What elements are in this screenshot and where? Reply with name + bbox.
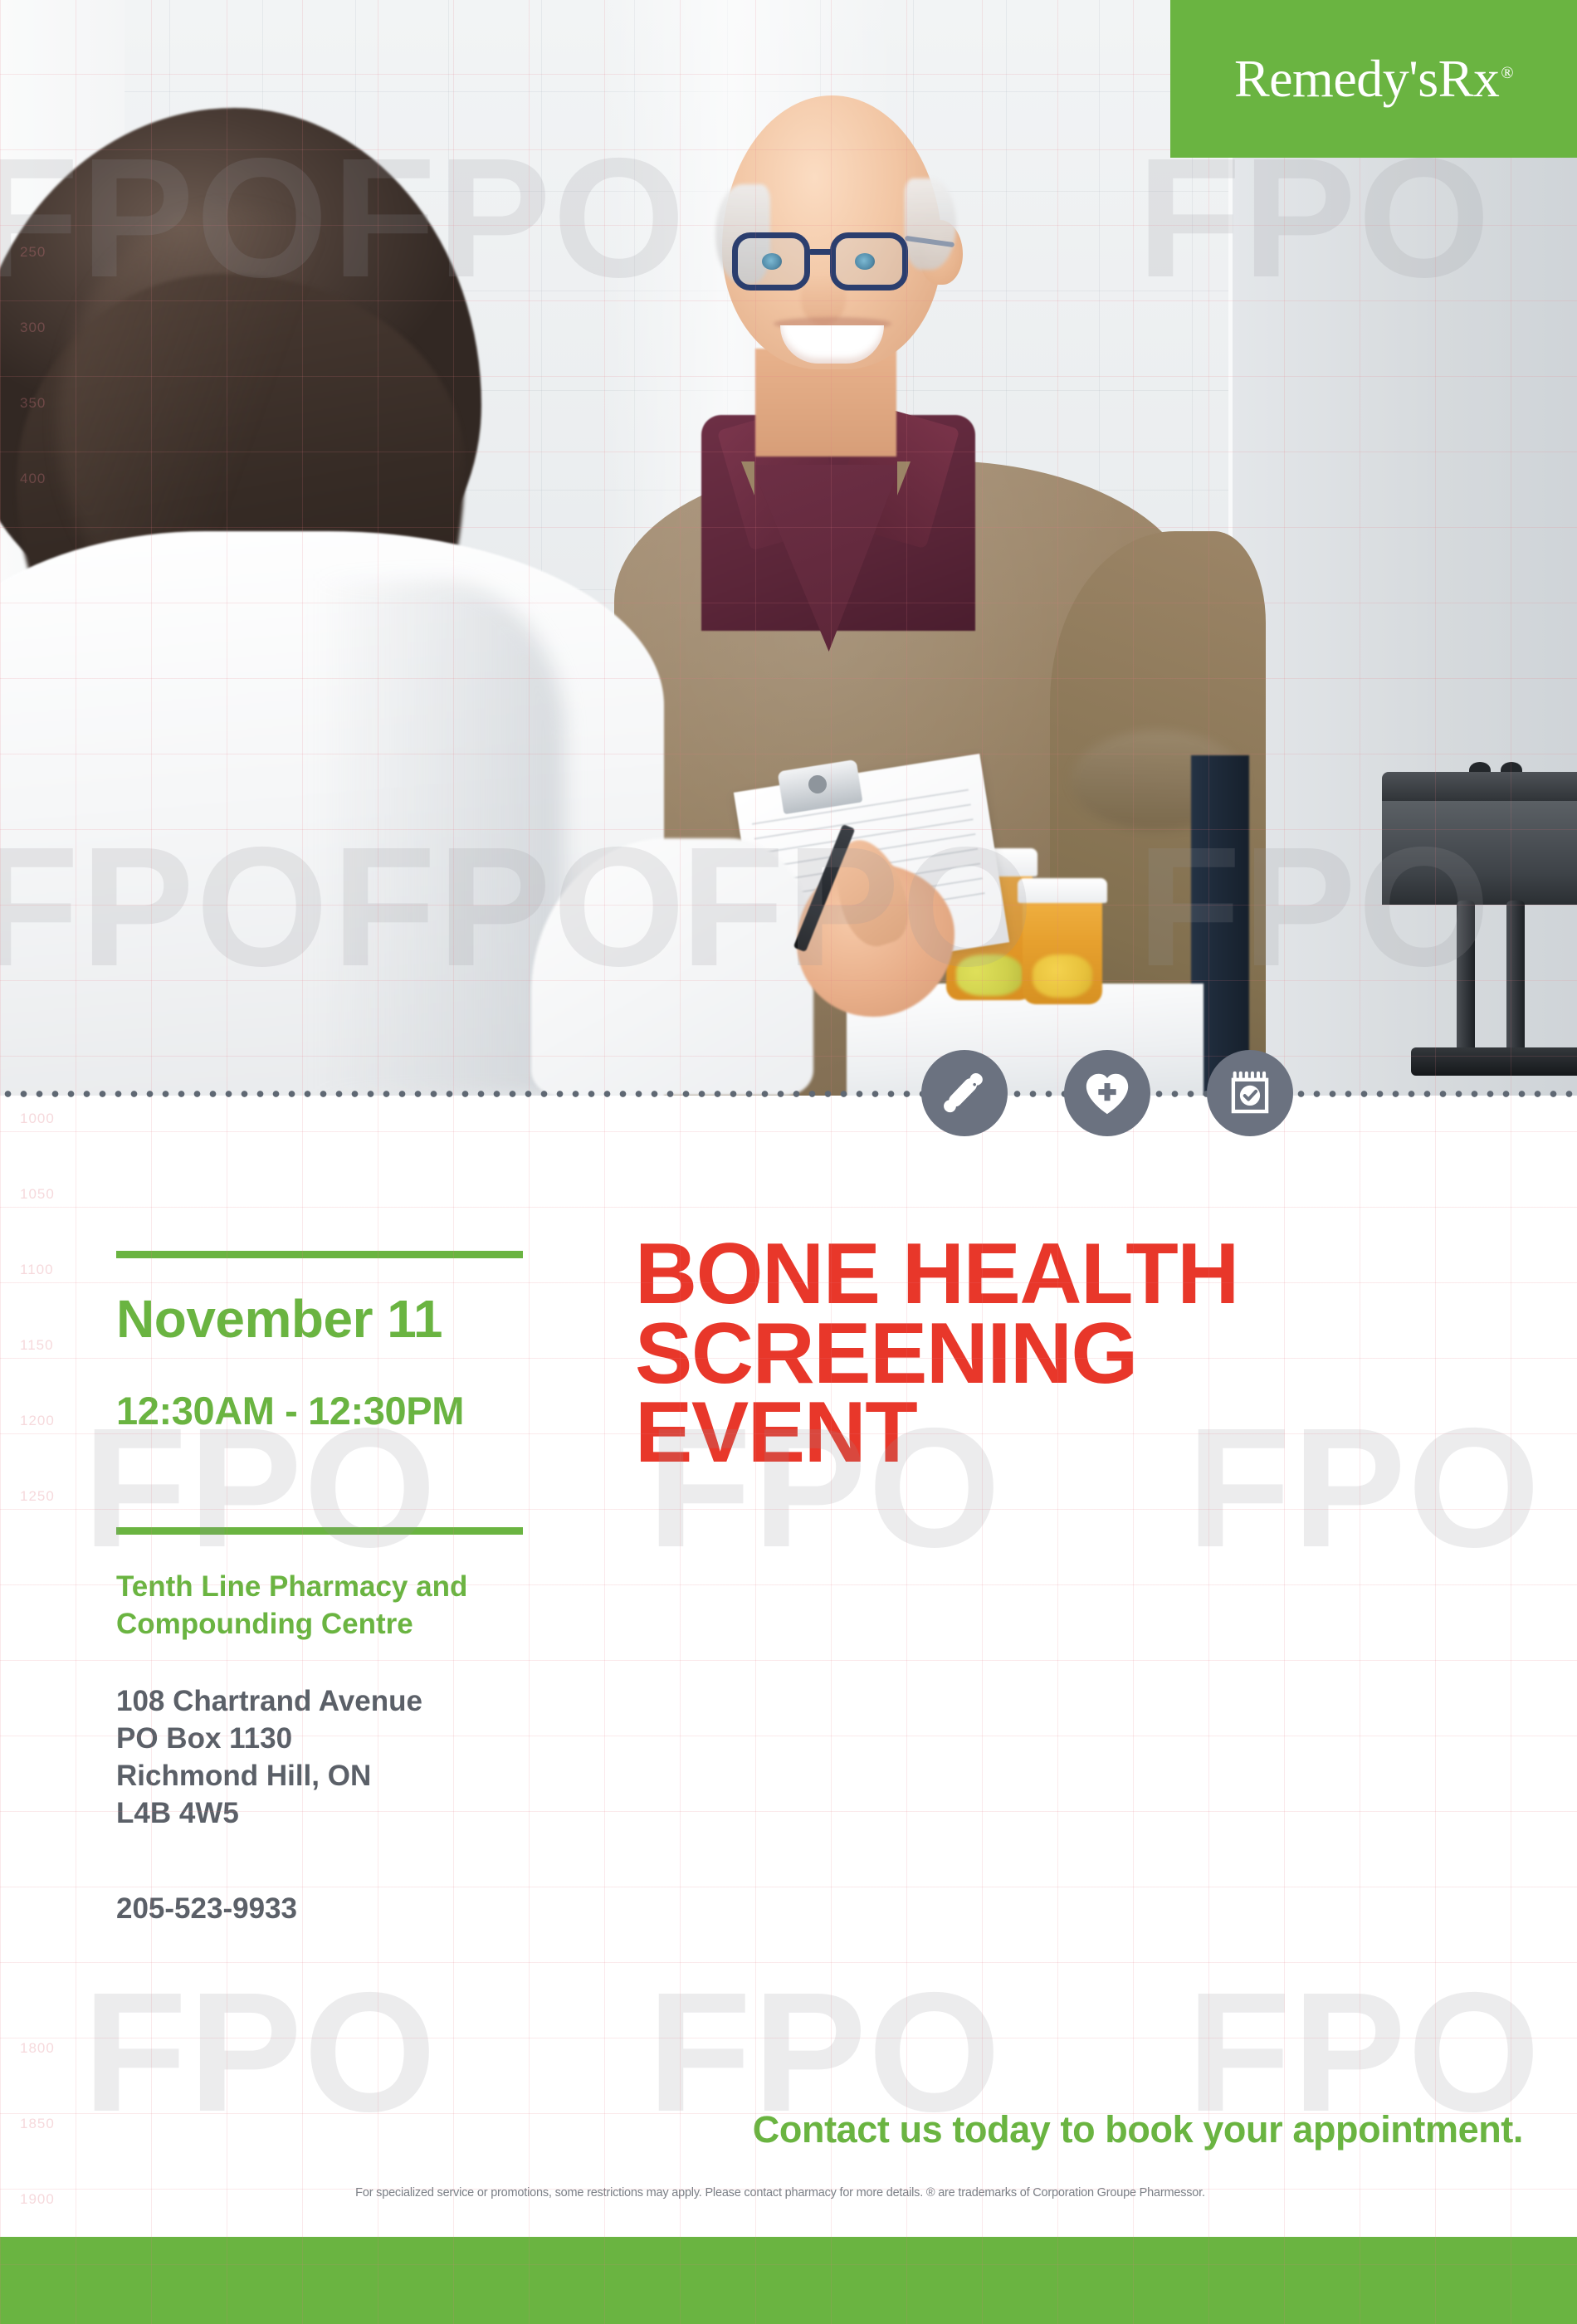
heart-plus-icon xyxy=(1064,1050,1150,1136)
wall-panel-right xyxy=(1228,0,1577,1096)
poster-canvas: Remedy'sRx® xyxy=(0,0,1577,2324)
venue-name-line2: Compounding Centre xyxy=(116,1608,413,1640)
eyeglasses-lens-left xyxy=(732,232,810,290)
bone-icon xyxy=(921,1050,1008,1136)
eyeglasses-bridge xyxy=(808,249,833,255)
brand-logo-text: Remedy'sRx® xyxy=(1234,48,1513,110)
eyeglasses-lens-right xyxy=(830,232,908,290)
address-street: 108 Chartrand Avenue xyxy=(116,1685,422,1717)
event-time: 12:30AM - 12:30PM xyxy=(116,1388,598,1433)
cart-body xyxy=(1382,801,1577,905)
patient-hair-right xyxy=(905,178,956,270)
venue-name-line1: Tenth Line Pharmacy and xyxy=(116,1570,467,1603)
venue-phone[interactable]: 205-523-9933 xyxy=(116,1892,548,1926)
pills-in-large-bottle xyxy=(956,954,1023,996)
dotted-divider xyxy=(0,1090,1577,1098)
headline-line-3: EVENT xyxy=(635,1384,916,1481)
address-postal-code: L4B 4W5 xyxy=(116,1797,239,1829)
event-date: November 11 xyxy=(116,1288,581,1350)
legal-fineprint: For specialized service or promotions, s… xyxy=(0,2186,1560,2199)
pharmacist-coat-shadow xyxy=(315,581,564,1096)
registered-trademark-symbol: ® xyxy=(1501,64,1513,82)
calendar-check-icon xyxy=(1207,1050,1293,1136)
venue-address: 108 Chartrand Avenue PO Box 1130 Richmon… xyxy=(116,1682,548,1833)
pill-bottle-cap-small xyxy=(1018,878,1107,903)
address-po-box: PO Box 1130 xyxy=(116,1722,292,1755)
cart-leg xyxy=(1506,901,1525,1054)
service-icon-row xyxy=(921,1050,1293,1136)
bottom-green-bar xyxy=(0,2237,1577,2324)
cart-base xyxy=(1411,1047,1577,1076)
cart-top-rail xyxy=(1382,772,1577,805)
pills-in-small-bottle xyxy=(1033,954,1092,998)
venue-name: Tenth Line Pharmacy and Compounding Cent… xyxy=(116,1569,539,1643)
brand-logo: Remedy'sRx® xyxy=(1170,0,1577,158)
date-rule-top xyxy=(116,1251,523,1258)
cart-leg xyxy=(1457,901,1475,1054)
address-city-province: Richmond Hill, ON xyxy=(116,1760,371,1792)
date-rule-bottom xyxy=(116,1527,523,1535)
page-title: BONE HEALTH SCREENING EVENT xyxy=(635,1235,1515,1473)
call-to-action: Contact us today to book your appointmen… xyxy=(0,2108,1523,2151)
hero-photo xyxy=(0,0,1577,1096)
